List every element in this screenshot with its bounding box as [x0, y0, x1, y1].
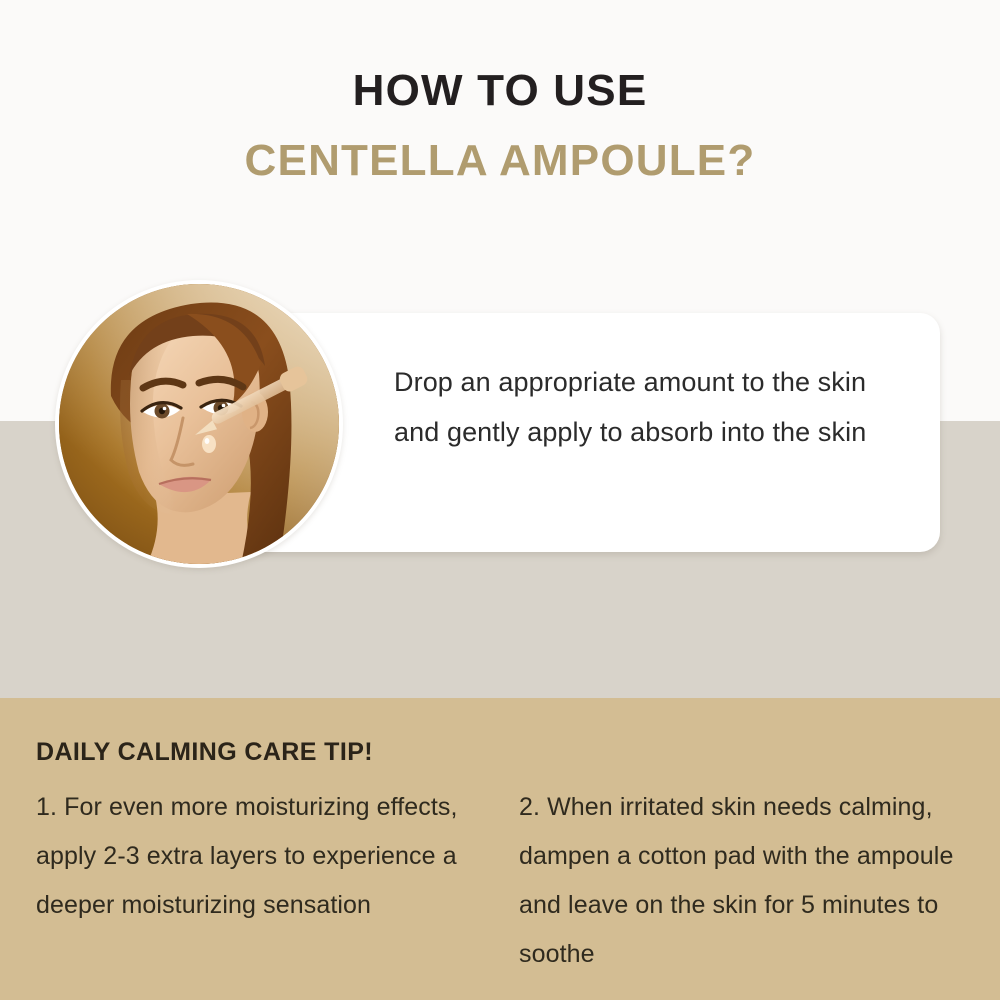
model-photo-illustration: [59, 284, 339, 564]
page-title: HOW TO USE CENTELLA AMPOULE?: [0, 62, 1000, 190]
avatar: [55, 280, 343, 568]
heading-line-primary: HOW TO USE: [0, 62, 1000, 120]
tip-item-2: 2. When irritated skin needs calming, da…: [519, 783, 984, 979]
step-instruction-text: Drop an appropriate amount to the skin a…: [394, 357, 894, 457]
infographic-page: HOW TO USE CENTELLA AMPOULE? Drop an app…: [0, 0, 1000, 1000]
tip-section-title: DAILY CALMING CARE TIP!: [36, 738, 373, 767]
model-photo: [59, 284, 339, 564]
heading-line-accent: CENTELLA AMPOULE?: [0, 120, 1000, 190]
tip-item-1: 1. For even more moisturizing effects, a…: [36, 783, 496, 930]
